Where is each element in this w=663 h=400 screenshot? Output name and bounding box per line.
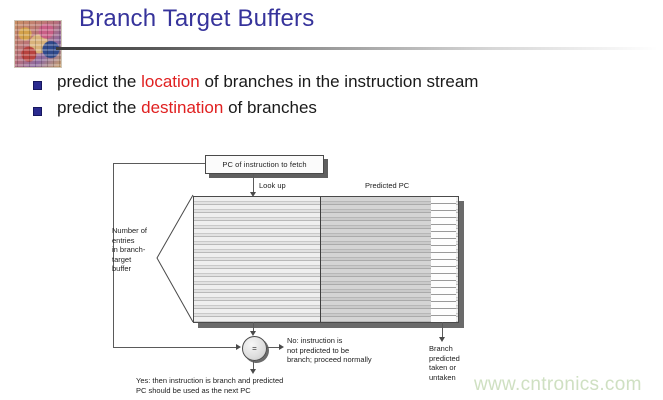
bullet-square-icon xyxy=(33,81,42,90)
branch-predicted-line: predicted xyxy=(429,354,460,363)
bullet-text-prefix: predict the xyxy=(57,98,141,117)
branch-predicted-line: untaken xyxy=(429,373,456,382)
no-branch-note: No: instruction is not predicted to be b… xyxy=(287,336,372,365)
entries-brace-icon xyxy=(156,194,194,323)
entries-label-line: target xyxy=(112,255,131,264)
comparator-no-arrow-icon xyxy=(279,344,284,350)
no-branch-line: No: instruction is xyxy=(287,336,342,345)
title-divider xyxy=(56,47,658,50)
entries-label-line: in branch- xyxy=(112,245,145,254)
list-item: predict the location of branches in the … xyxy=(33,72,643,98)
lookup-label: Look up xyxy=(259,181,286,191)
table-column-predicted-pc xyxy=(320,197,432,322)
bullet-text-suffix: of branches in the instruction stream xyxy=(200,72,479,91)
entries-label-line: buffer xyxy=(112,264,131,273)
list-item: predict the destination of branches xyxy=(33,98,643,124)
feedback-line-bottom xyxy=(113,347,236,348)
bullet-text-prefix: predict the xyxy=(57,72,141,91)
branch-predicted-line: Branch xyxy=(429,344,453,353)
predicted-pc-label: Predicted PC xyxy=(365,181,409,191)
comparator-equals: = xyxy=(242,336,267,361)
bullet-square-icon xyxy=(33,107,42,116)
yes-branch-line: Yes: then instruction is branch and pred… xyxy=(136,376,283,385)
bullet-text-highlight: destination xyxy=(141,98,223,117)
bullet-item-text: predict the destination of branches xyxy=(57,98,317,118)
no-branch-line: branch; proceed normally xyxy=(287,355,372,364)
page-title: Branch Target Buffers xyxy=(79,5,314,33)
lookup-line xyxy=(253,174,254,194)
entries-label-line: entries xyxy=(112,236,135,245)
feedback-line-top xyxy=(113,163,205,164)
taken-bit-arrow-icon xyxy=(439,337,445,342)
yes-branch-note: Yes: then instruction is branch and pred… xyxy=(136,376,283,395)
comparator-yes-arrow-icon xyxy=(250,369,256,374)
yes-branch-line: PC should be used as the next PC xyxy=(136,386,251,395)
slide-root: Branch Target Buffers predict the locati… xyxy=(0,0,663,400)
bullet-list: predict the location of branches in the … xyxy=(33,72,643,124)
no-branch-line: not predicted to be xyxy=(287,346,349,355)
pc-of-instruction-box: PC of instruction to fetch xyxy=(205,155,324,174)
bullet-text-highlight: location xyxy=(141,72,200,91)
branch-predicted-note: Branch predicted taken or untaken xyxy=(429,344,460,382)
branch-target-buffer-table xyxy=(193,196,459,323)
branch-target-buffer-diagram: PC of instruction to fetch Look up Predi… xyxy=(112,148,552,398)
table-column-taken-bit xyxy=(431,197,456,322)
branch-predicted-line: taken or xyxy=(429,363,456,372)
entries-label-line: Number of xyxy=(112,226,147,235)
bullet-item-text: predict the location of branches in the … xyxy=(57,72,478,92)
feedback-arrow-icon xyxy=(236,344,241,350)
table-row-stripes-right xyxy=(431,197,456,322)
entries-count-label: Number of entries in branch- target buff… xyxy=(112,226,147,274)
site-watermark: www.cntronics.com xyxy=(474,374,642,396)
cpu-die-image-icon xyxy=(14,20,62,68)
comparator-no-line xyxy=(266,347,280,348)
bullet-text-suffix: of branches xyxy=(223,98,317,117)
